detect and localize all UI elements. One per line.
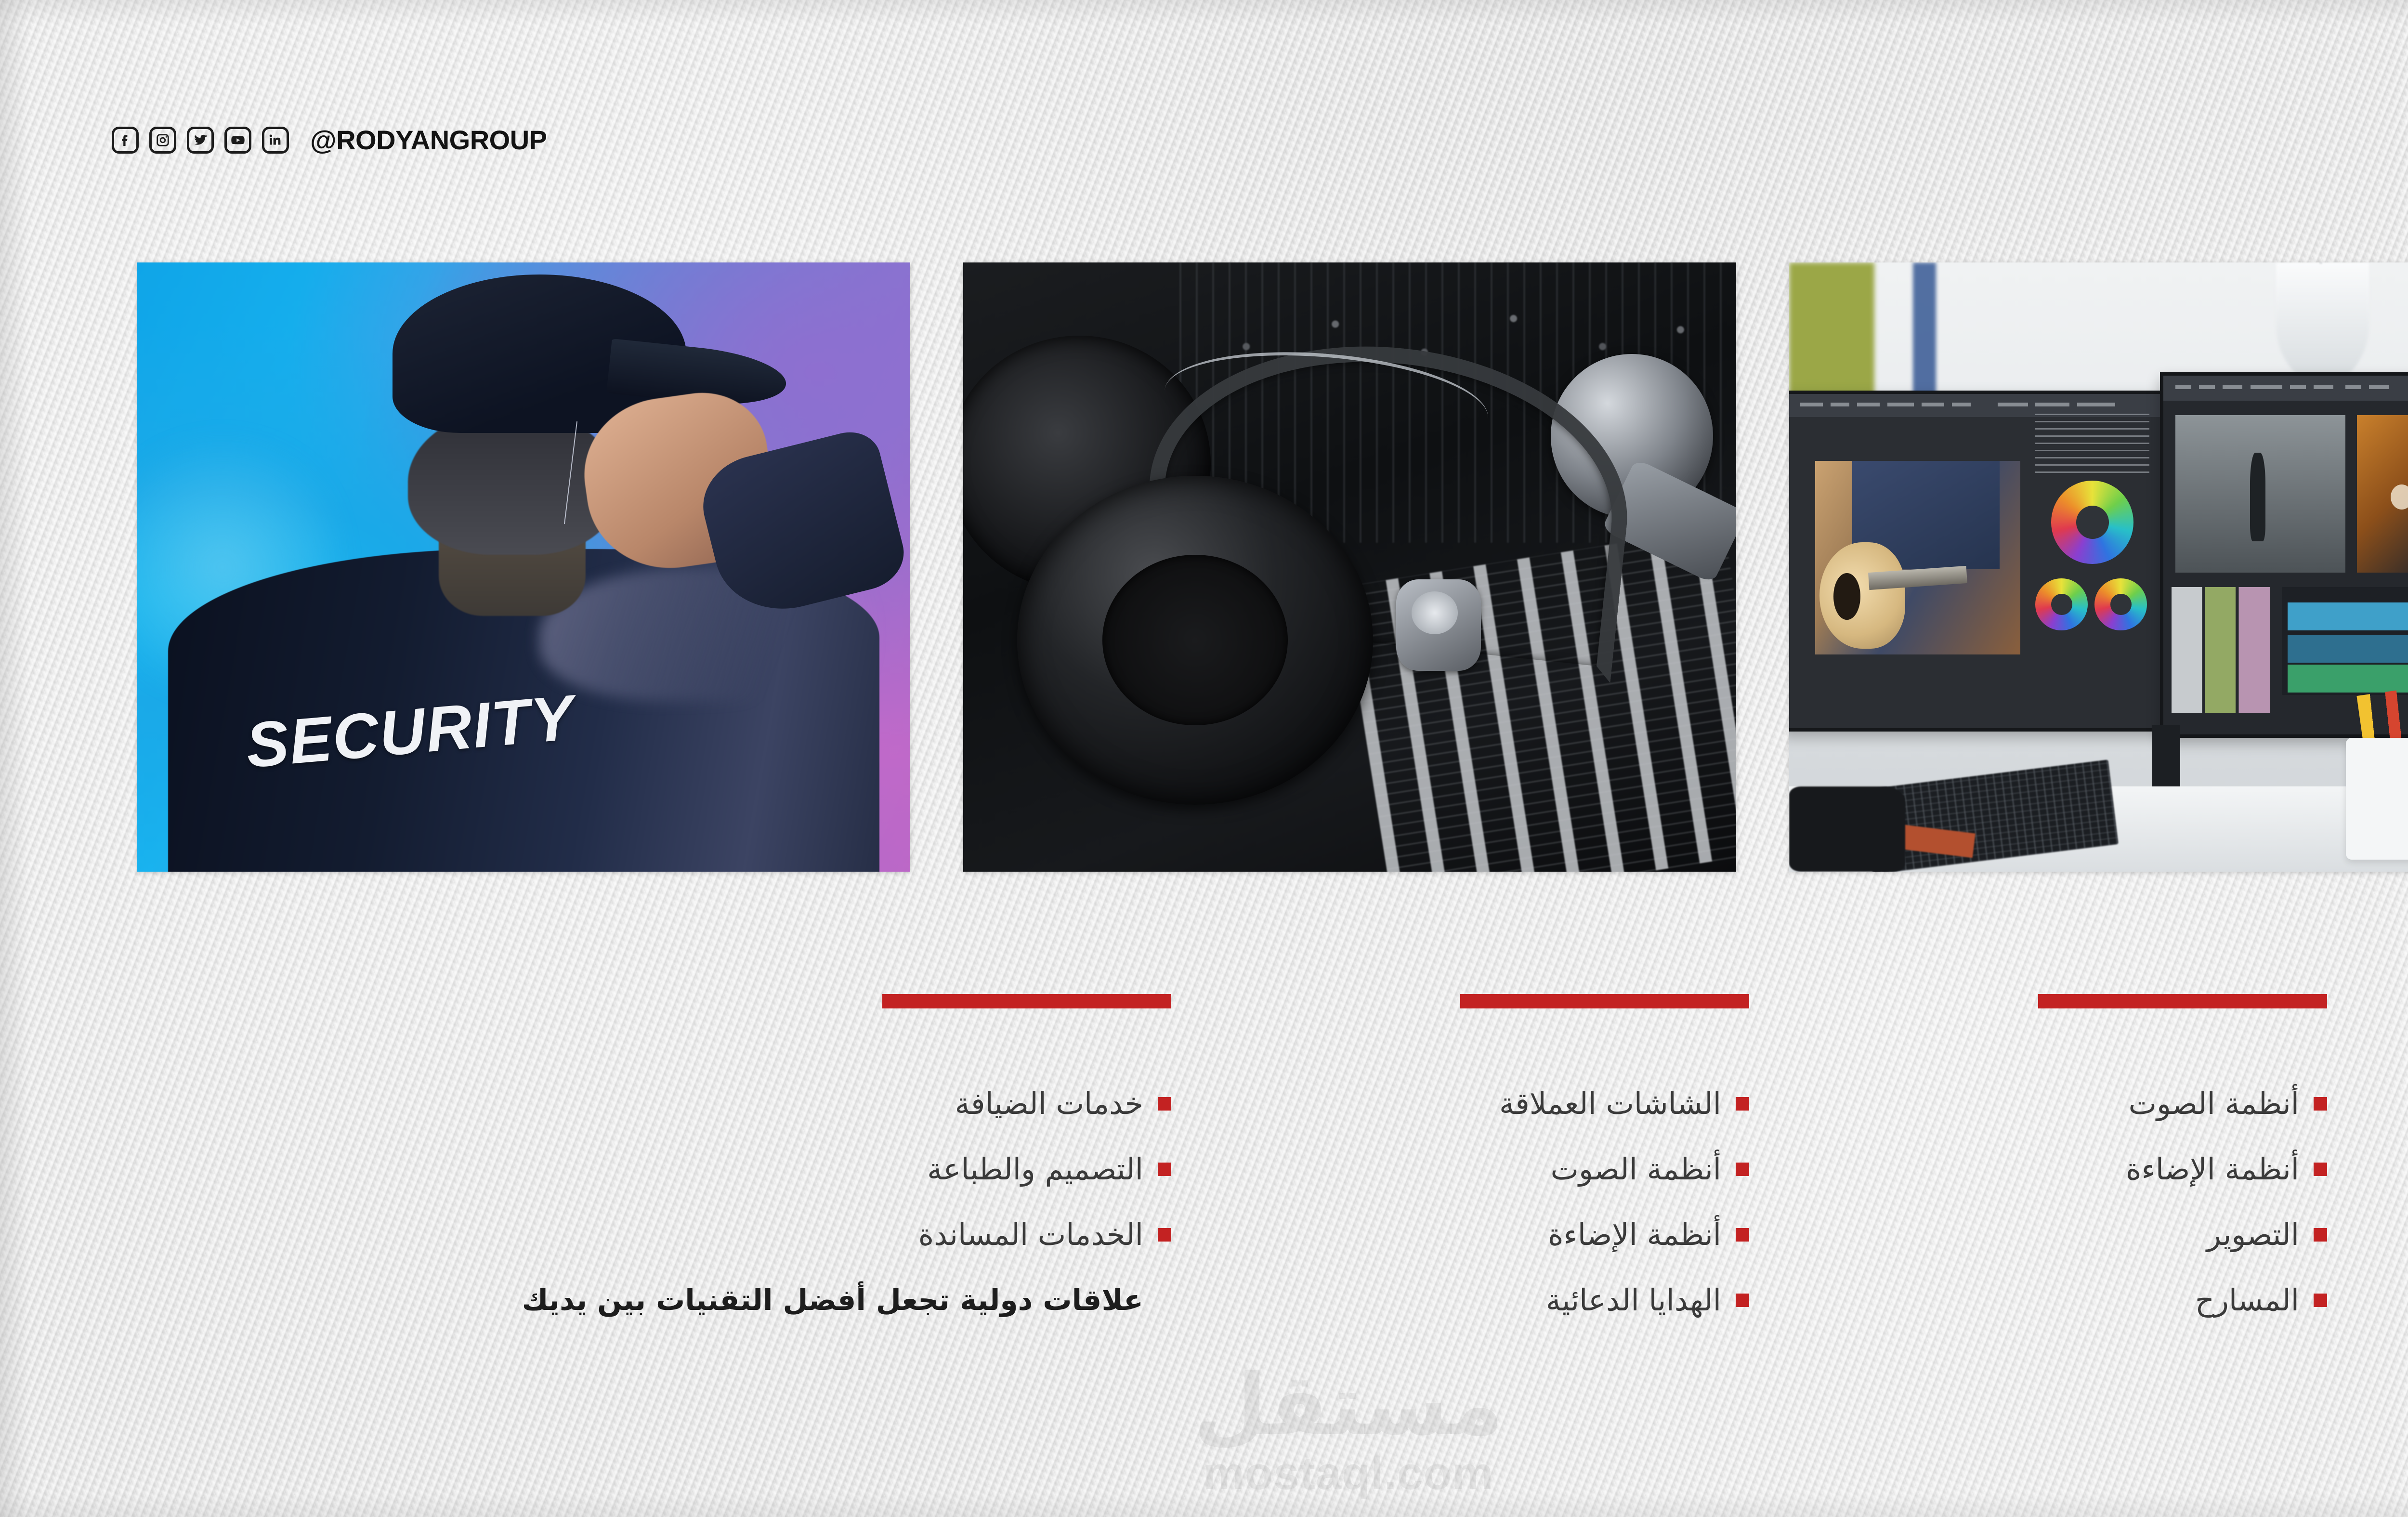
color-wheel-primary	[2051, 481, 2133, 563]
bullet-square	[2314, 1163, 2327, 1176]
instagram-icon[interactable]	[149, 127, 176, 154]
pendant-lamp	[2276, 262, 2369, 384]
bullet-square	[2314, 1294, 2327, 1307]
left-monitor	[1789, 391, 2168, 732]
service-label: المسارح	[2195, 1285, 2299, 1315]
linkedin-icon[interactable]	[262, 127, 289, 154]
bullet-square	[1736, 1097, 1749, 1111]
list-item[interactable]: أنظمة الإضاءة	[1460, 1202, 1749, 1268]
color-wheel-highlights	[2094, 578, 2147, 631]
list-item[interactable]: التصميم والطباعة	[882, 1137, 1171, 1202]
services-column-left: خدمات الضيافة التصميم والطباعة الخدمات ا…	[882, 994, 1171, 1333]
source-preview-panel	[2175, 415, 2345, 573]
project-media-bin	[2172, 587, 2270, 713]
column-rule	[2038, 994, 2327, 1008]
service-label: أنظمة الإضاءة	[1548, 1220, 1721, 1250]
3d-viewport	[1815, 461, 2020, 655]
bullet-square	[2314, 1228, 2327, 1242]
facebook-icon[interactable]	[112, 127, 139, 154]
headphone-hinge-mesh	[1412, 591, 1458, 634]
watermark-arabic: مستقل	[1193, 1363, 1504, 1448]
pen-holder	[2346, 738, 2408, 860]
service-label: الخدمات المساندة	[918, 1220, 1143, 1250]
service-label: أنظمة الصوت	[1551, 1154, 1721, 1184]
right-monitor-menubar	[2163, 376, 2408, 401]
services-list: الشاشات العملاقة أنظمة الصوت أنظمة الإضا…	[1460, 1071, 1749, 1333]
bullet-square	[1158, 1228, 1171, 1242]
services-column-right: أنظمة الصوت أنظمة الإضاءة التصوير المسار…	[2038, 994, 2327, 1333]
twitter-icon[interactable]	[187, 127, 214, 154]
list-item[interactable]: الشاشات العملاقة	[1460, 1071, 1749, 1137]
bullet-square	[1736, 1228, 1749, 1242]
list-item[interactable]: الهدايا الدعائية	[1460, 1268, 1749, 1333]
column-rule	[882, 994, 1171, 1008]
color-grading-wheels	[2035, 481, 2149, 661]
editing-timeline	[2282, 587, 2408, 695]
youtube-icon[interactable]	[224, 127, 251, 154]
list-item[interactable]: أنظمة الإضاءة	[2038, 1137, 2327, 1202]
services-list: أنظمة الصوت أنظمة الإضاءة التصوير المسار…	[2038, 1071, 2327, 1333]
tagline-text: علاقات دولية تجعل أفضل التقنيات بين يديك	[522, 1286, 1143, 1315]
color-wheel-shadows	[2035, 578, 2088, 631]
photo-strip: SECURITY	[137, 262, 2408, 872]
list-item[interactable]: الخدمات المساندة	[882, 1202, 1171, 1268]
right-monitor	[2160, 372, 2408, 738]
viewport-guitar-body	[1819, 542, 1906, 649]
service-label: التصوير	[2207, 1220, 2299, 1250]
audio-photo	[963, 262, 1736, 872]
tagline-row: علاقات دولية تجعل أفضل التقنيات بين يديك	[882, 1268, 1171, 1333]
security-photo: SECURITY	[137, 262, 910, 872]
list-item[interactable]: أنظمة الصوت	[1460, 1137, 1749, 1202]
list-item[interactable]: المسارح	[2038, 1268, 2327, 1333]
list-item[interactable]: التصوير	[2038, 1202, 2327, 1268]
service-label: خدمات الضيافة	[955, 1089, 1143, 1119]
services-list: خدمات الضيافة التصميم والطباعة الخدمات ا…	[882, 1071, 1171, 1333]
service-label: أنظمة الإضاءة	[2126, 1154, 2299, 1184]
service-label: الهدايا الدعائية	[1546, 1285, 1721, 1315]
services-column-middle: الشاشات العملاقة أنظمة الصوت أنظمة الإضا…	[1460, 994, 1749, 1333]
editing-photo	[1789, 262, 2408, 872]
social-handle: @RODYANGROUP	[310, 124, 547, 156]
list-item[interactable]: خدمات الضيافة	[882, 1071, 1171, 1137]
bullet-square	[1736, 1294, 1749, 1307]
list-item[interactable]: أنظمة الصوت	[2038, 1071, 2327, 1137]
service-label: الشاشات العملاقة	[1499, 1089, 1721, 1119]
bullet-square	[1158, 1097, 1171, 1111]
bullet-square	[1736, 1163, 1749, 1176]
camera	[1789, 786, 1905, 872]
bullet-square	[1158, 1163, 1171, 1176]
service-label: التصميم والطباعة	[927, 1154, 1143, 1184]
headphone-ear-pad	[1102, 555, 1288, 725]
service-label: أنظمة الصوت	[2129, 1089, 2299, 1119]
bullet-square	[2314, 1097, 2327, 1111]
social-bar: @RODYANGROUP	[112, 124, 547, 156]
viewport-guitar-soundhole	[1833, 573, 1860, 620]
scene-outliner-panel	[2035, 414, 2149, 474]
program-preview-panel	[2357, 415, 2408, 573]
watermark: مستقل mostaql.com	[0, 1363, 2408, 1497]
column-rule	[1460, 994, 1749, 1008]
watermark-url: mostaql.com	[1203, 1451, 1493, 1497]
